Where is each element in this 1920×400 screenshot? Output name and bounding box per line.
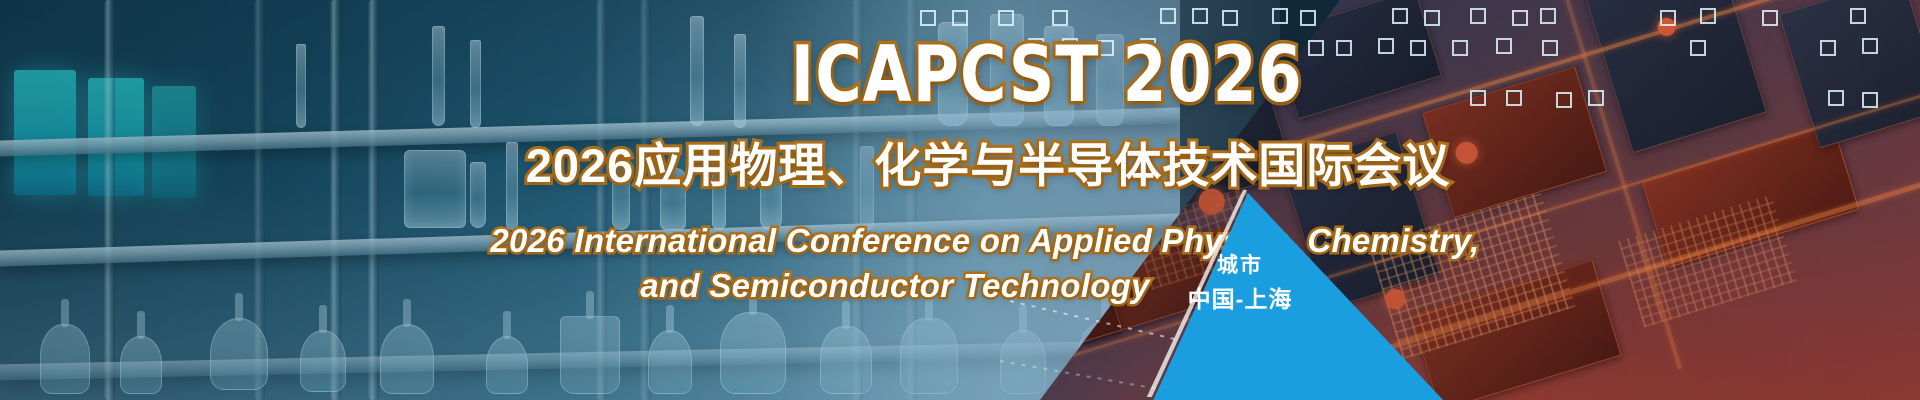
conference-acronym-title: ICAPCST 2026: [87, 36, 1920, 113]
conference-chinese-title: 2026应用物理、化学与半导体技术国际会议: [28, 127, 1920, 196]
conference-english-title-line2: and Semiconductor Technology: [0, 267, 1855, 305]
city-value: 中国-上海: [1120, 282, 1360, 317]
conference-banner: ICAPCST 2026 2026应用物理、化学与半导体技术国际会议 2026 …: [0, 0, 1920, 400]
city-label: 城市: [1120, 250, 1360, 282]
conference-english-title-line1: 2026 International Conference on Applied…: [25, 222, 1920, 260]
acronym-text: ICAPCST 2026: [791, 29, 1303, 120]
city-info-block: 城市 中国-上海: [1120, 250, 1360, 316]
